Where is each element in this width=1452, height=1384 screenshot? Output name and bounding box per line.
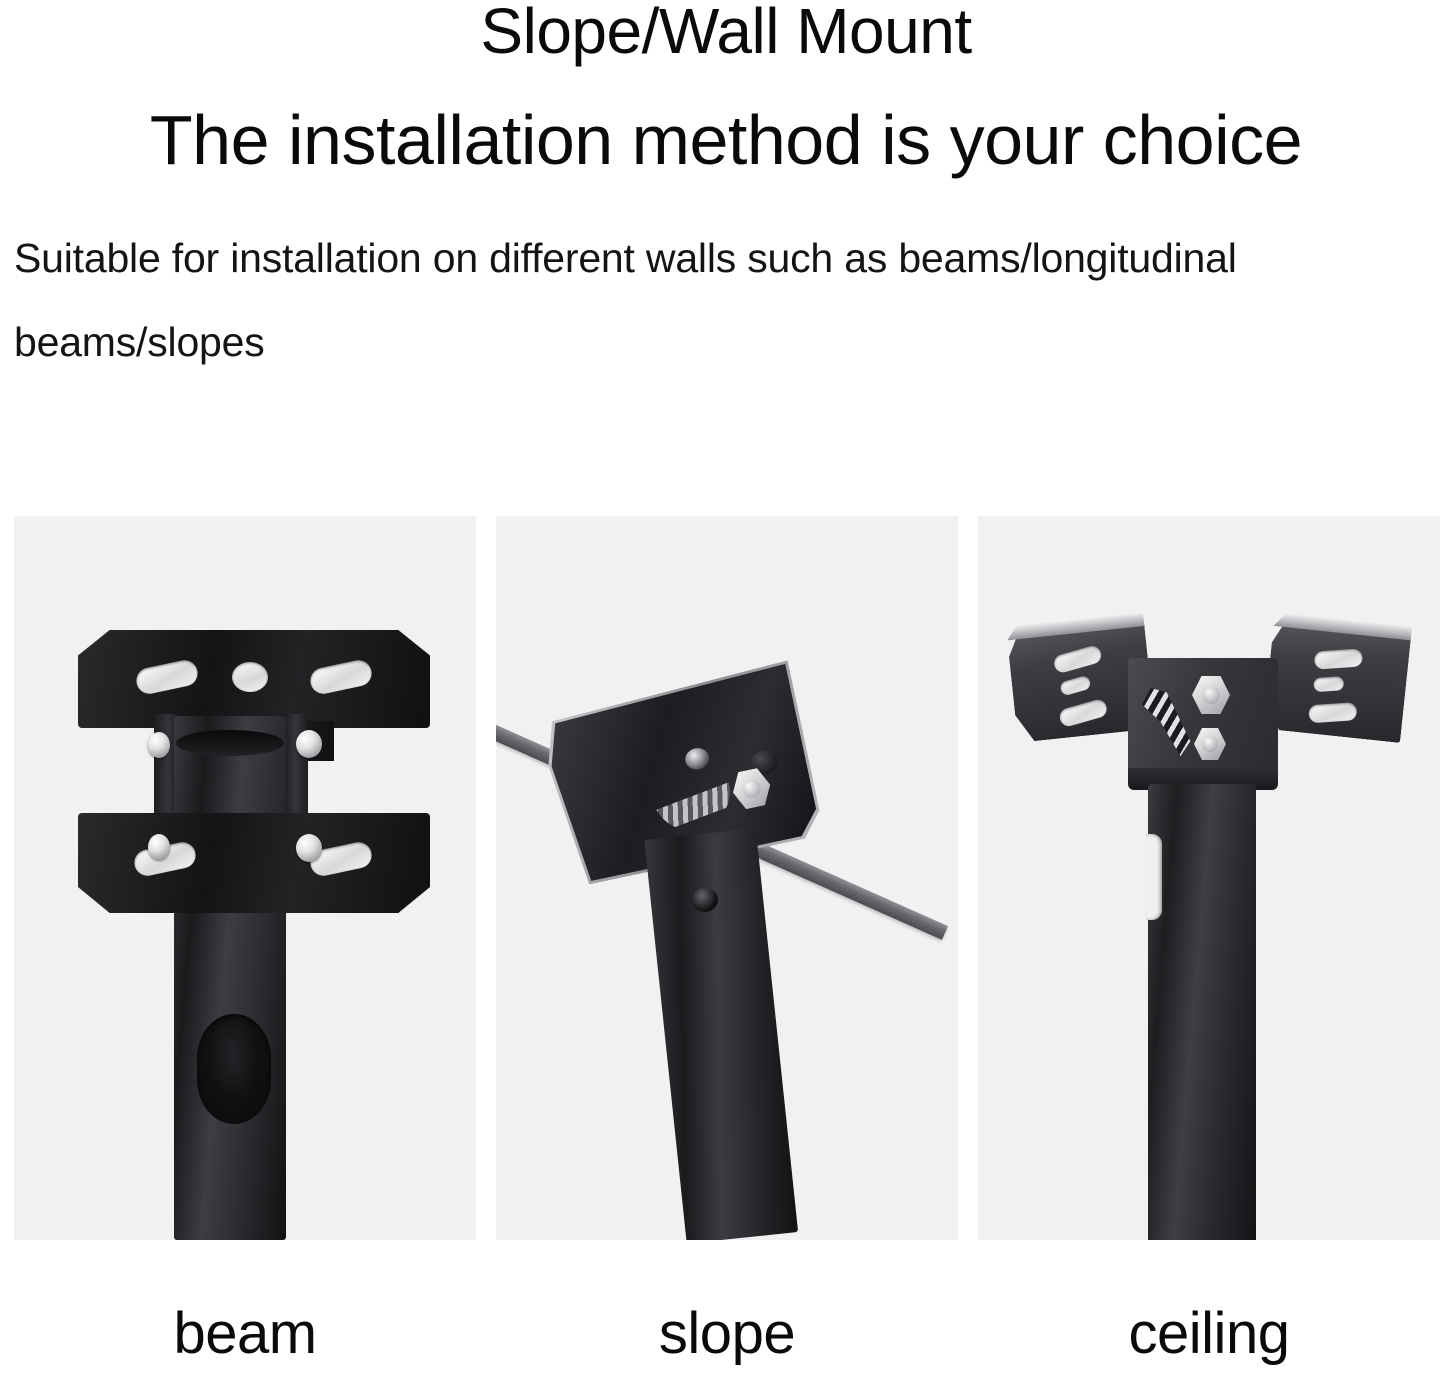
- beam-bolt-left-lower: [148, 834, 170, 860]
- description-text: Suitable for installation on different w…: [0, 216, 1452, 384]
- ceiling-wing-right-slot-1: [1314, 648, 1363, 669]
- beam-tube: [174, 716, 286, 1240]
- photo-panel-beam: [14, 516, 476, 1240]
- slope-tube: [644, 828, 798, 1240]
- caption-beam: beam: [14, 1286, 476, 1384]
- page-subtitle: The installation method is your choice: [0, 100, 1452, 180]
- ceiling-wing-right-slot-3: [1308, 702, 1357, 723]
- panel-captions: beam slope ceiling: [14, 1286, 1440, 1384]
- ceiling-tube-notch: [1146, 834, 1162, 920]
- caption-ceiling: ceiling: [978, 1286, 1440, 1384]
- caption-slope: slope: [496, 1286, 958, 1384]
- photo-panel-ceiling: [978, 516, 1440, 1240]
- beam-bolt-right-lower: [296, 834, 322, 862]
- photo-panel-slope: [496, 516, 958, 1240]
- beam-tube-cutout: [197, 1014, 271, 1124]
- intro-text-block: Slope/Wall Mount The installation method…: [0, 0, 1452, 384]
- beam-top-hole-center: [232, 662, 268, 692]
- ceiling-tube: [1148, 784, 1256, 1240]
- beam-bolt-left-upper: [148, 732, 170, 758]
- beam-tube-mouth: [176, 730, 284, 756]
- beam-bolt-right-upper: [296, 730, 322, 758]
- ceiling-wing-right-slot-2: [1313, 676, 1344, 692]
- page-title: Slope/Wall Mount: [0, 0, 1452, 66]
- beam-bottom-plate: [78, 813, 430, 913]
- ceiling-wing-right: [1263, 621, 1412, 743]
- mount-option-panels: [14, 516, 1440, 1240]
